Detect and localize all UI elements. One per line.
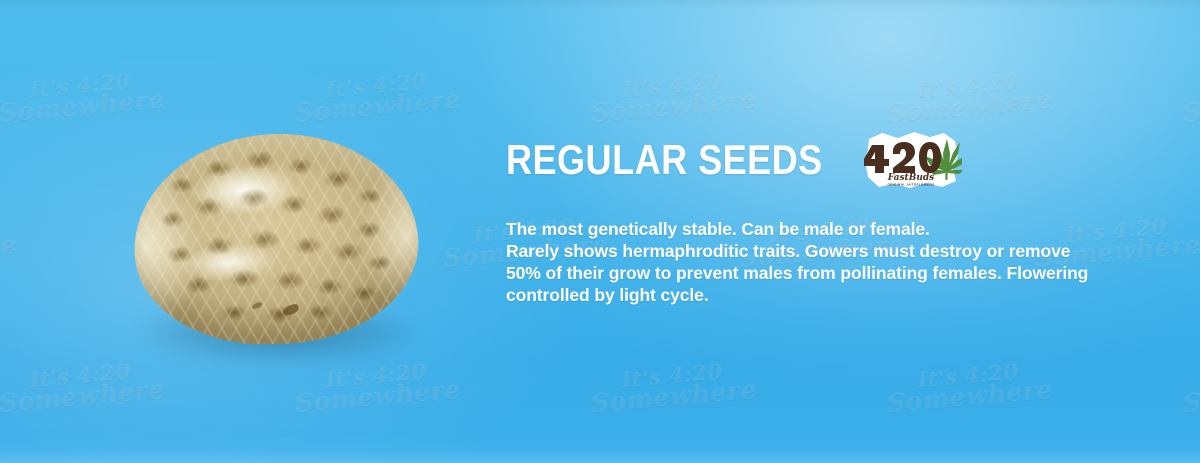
description-line: Rarely shows hermaphroditic traits. Gowe… [506,240,1146,262]
description-block: The most genetically stable. Can be male… [506,218,1146,306]
title-row: REGULAR SEEDS [506,132,1146,188]
fastbuds-420-logo: FastBuds ORIGINAL AUTOFLOWERS [862,129,962,191]
description-line: The most genetically stable. Can be male… [506,218,1146,240]
banner-content: REGULAR SEEDS [506,132,1146,306]
logo-brand-text: FastBuds [887,173,934,183]
description-line: 50% of their grow to prevent males from … [506,262,1146,284]
fastbuds-logo-icon: FastBuds ORIGINAL AUTOFLOWERS [862,129,962,191]
description-line: controlled by light cycle. [506,284,1146,306]
logo-tagline-text: ORIGINAL AUTOFLOWERS [888,183,935,187]
seed-veins [129,127,424,352]
regular-seeds-banner: It's 4:20SomewhereIt's 4:20SomewhereIt's… [0,0,1200,463]
seed-body [129,127,424,352]
page-title: REGULAR SEEDS [506,138,823,182]
seed-image [128,128,428,368]
